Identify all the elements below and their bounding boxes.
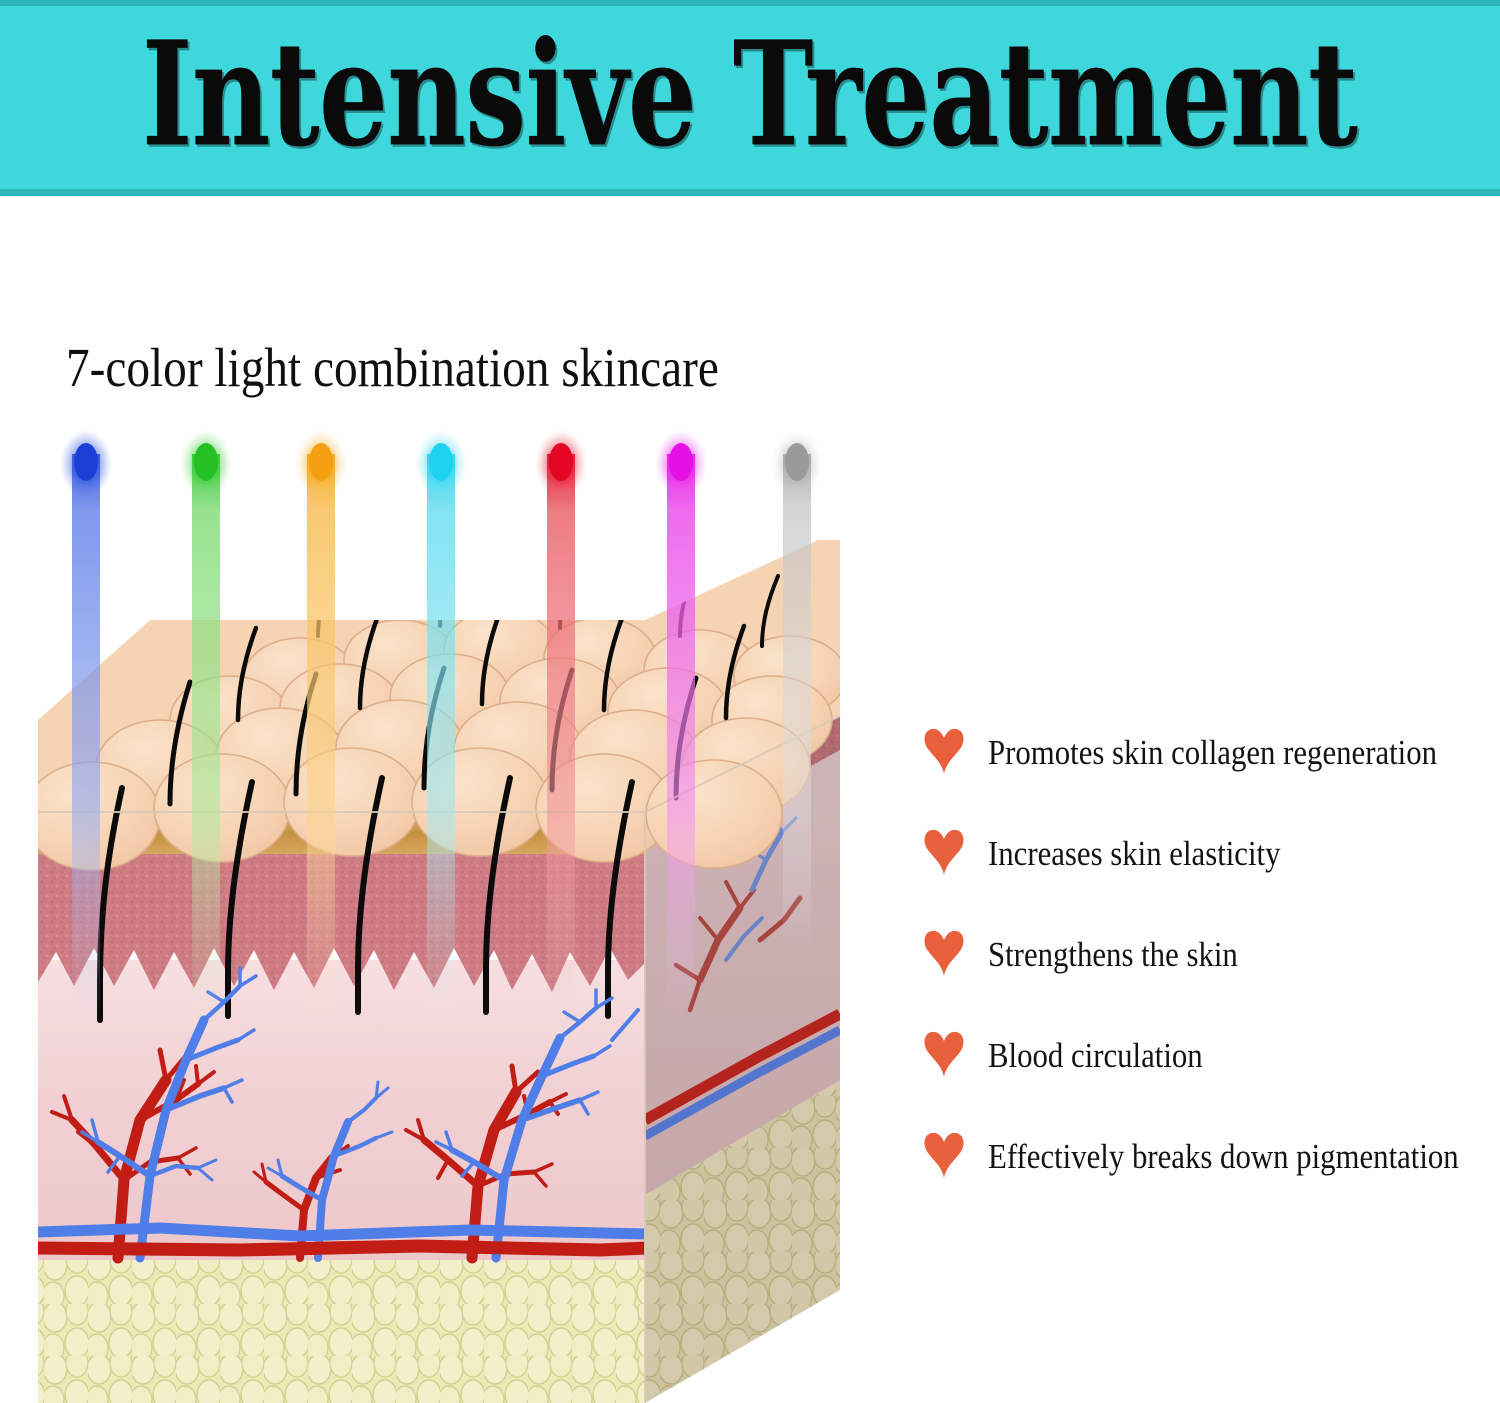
benefits-list: Promotes skin collagen regeneration Incr… <box>922 702 1492 1207</box>
page-title: Intensive Treatment <box>142 22 1357 173</box>
benefit-label: Blood circulation <box>988 1036 1203 1076</box>
heart-icon <box>922 828 966 876</box>
skin-cross-section-diagram <box>0 420 900 1403</box>
heart-icon <box>922 1030 966 1078</box>
list-item: Blood circulation <box>922 1005 1492 1106</box>
list-item: Promotes skin collagen regeneration <box>922 702 1492 803</box>
subtitle-heading: 7-color light combination skincare <box>66 336 719 399</box>
benefit-label: Strengthens the skin <box>988 935 1238 975</box>
heart-icon <box>922 1131 966 1179</box>
benefit-label: Effectively breaks down pigmentation <box>988 1137 1459 1177</box>
heart-icon <box>922 727 966 775</box>
header-banner: Intensive Treatment <box>0 0 1500 196</box>
heart-icon <box>922 929 966 977</box>
list-item: Effectively breaks down pigmentation <box>922 1106 1492 1207</box>
list-item: Strengthens the skin <box>922 904 1492 1005</box>
benefit-label: Increases skin elasticity <box>988 834 1281 874</box>
benefit-label: Promotes skin collagen regeneration <box>988 733 1437 773</box>
list-item: Increases skin elasticity <box>922 803 1492 904</box>
